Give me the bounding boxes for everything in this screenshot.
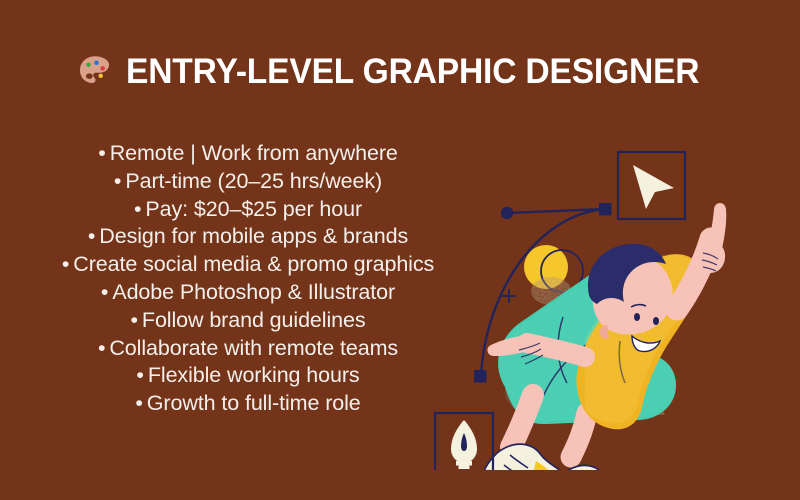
bullet-marker: •: [130, 308, 137, 332]
list-item-label: Create social media & promo graphics: [73, 252, 434, 276]
list-item: •Design for mobile apps & brands: [38, 223, 458, 251]
bullet-marker: •: [134, 197, 141, 221]
square-anchor-handle[interactable]: [599, 203, 612, 216]
list-item-label: Collaborate with remote teams: [109, 336, 398, 360]
list-item: •Remote | Work from anywhere: [38, 140, 458, 168]
bullet-marker: •: [136, 363, 143, 387]
list-item-label: Design for mobile apps & brands: [99, 224, 408, 248]
list-item-label: Pay: $20–$25 per hour: [145, 197, 362, 221]
sneaker-front: [551, 465, 624, 470]
list-item-label: Part-time (20–25 hrs/week): [125, 169, 382, 193]
crosshair-marker: [502, 289, 516, 303]
designer-character: [483, 203, 735, 470]
bullet-marker: •: [88, 224, 95, 248]
bullet-marker: •: [62, 252, 69, 276]
bullet-marker: •: [135, 391, 142, 415]
pen-tool-box[interactable]: [435, 413, 493, 470]
cursor-arrow-box[interactable]: [618, 152, 685, 219]
pen-nib-icon: [451, 420, 477, 469]
square-anchor-point[interactable]: [474, 370, 487, 383]
palette-icon: [76, 52, 114, 90]
round-anchor-point[interactable]: [501, 207, 513, 219]
list-item-label: Growth to full-time role: [147, 391, 361, 415]
list-item: •Pay: $20–$25 per hour: [38, 196, 458, 224]
job-details-list: •Remote | Work from anywhere •Part-time …: [38, 140, 458, 418]
list-item: •Follow brand guidelines: [38, 307, 458, 335]
list-item-label: Adobe Photoshop & Illustrator: [112, 280, 395, 304]
list-item-label: Follow brand guidelines: [142, 308, 366, 332]
page-header: ENTRY-LEVEL GRAPHIC DESIGNER: [0, 52, 800, 90]
list-item-label: Remote | Work from anywhere: [110, 141, 398, 165]
list-item-label: Flexible working hours: [148, 363, 360, 387]
eye-right: [653, 317, 659, 325]
poster-canvas: ENTRY-LEVEL GRAPHIC DESIGNER •Remote | W…: [0, 0, 800, 500]
list-item: •Growth to full-time role: [38, 390, 458, 418]
bullet-marker: •: [98, 141, 105, 165]
list-item: •Adobe Photoshop & Illustrator: [38, 279, 458, 307]
list-item: •Flexible working hours: [38, 362, 458, 390]
designer-illustration: [415, 95, 800, 470]
page-title: ENTRY-LEVEL GRAPHIC DESIGNER: [126, 54, 699, 89]
list-item: •Create social media & promo graphics: [38, 251, 458, 279]
bullet-marker: •: [114, 169, 121, 193]
sneaker-rear: [483, 444, 567, 470]
cursor-arrow-icon: [633, 165, 674, 209]
list-item: •Collaborate with remote teams: [38, 335, 458, 363]
bullet-marker: •: [101, 280, 108, 304]
list-item: •Part-time (20–25 hrs/week): [38, 168, 458, 196]
eye-left: [634, 313, 640, 321]
bullet-marker: •: [98, 336, 105, 360]
